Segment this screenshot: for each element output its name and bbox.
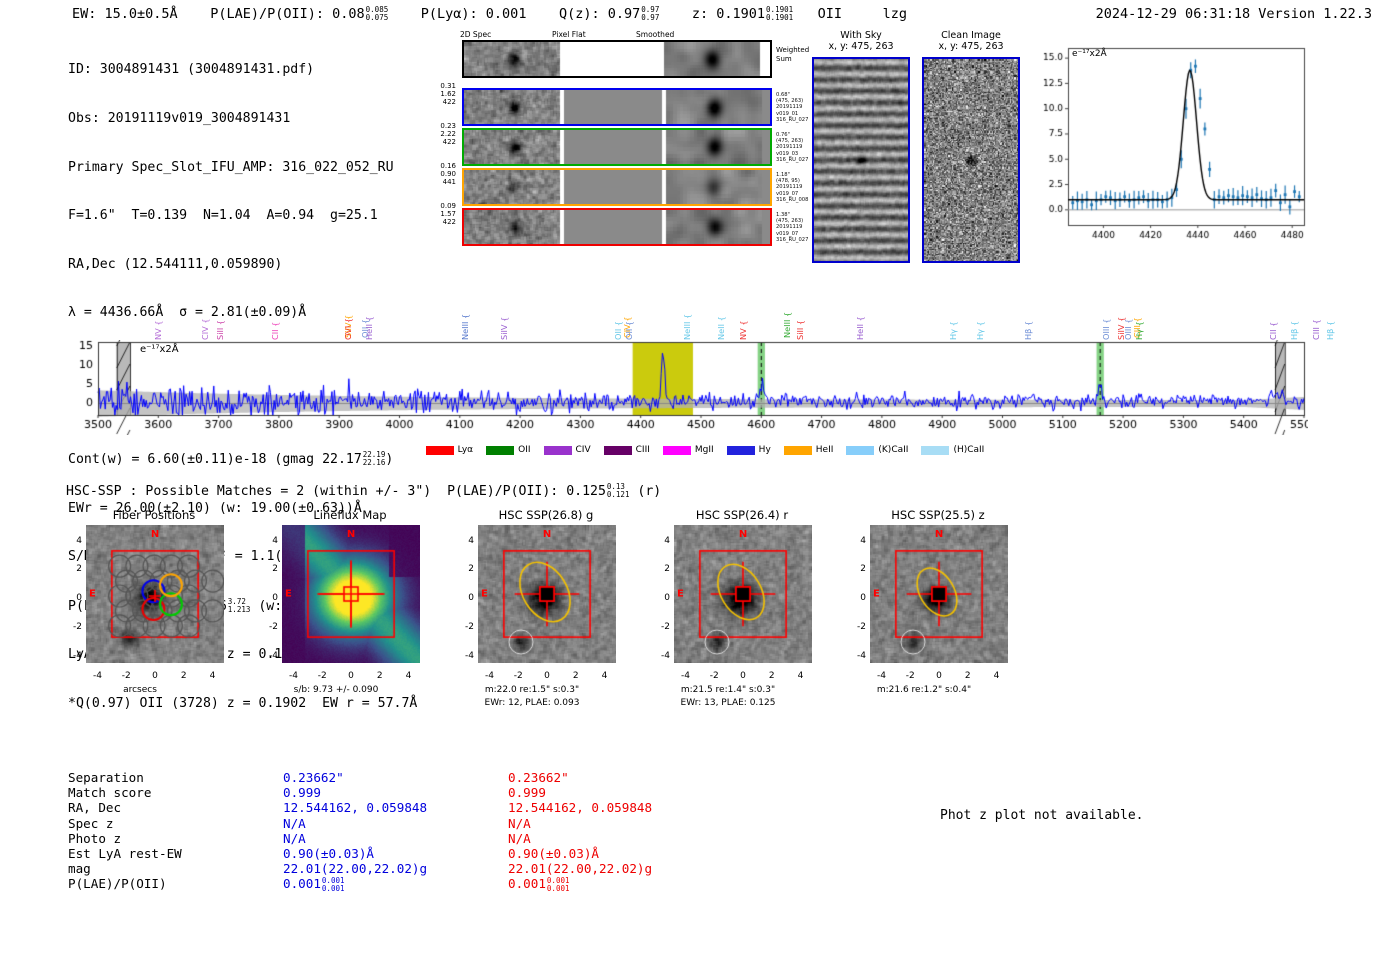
cutout-ytick: -4 xyxy=(262,651,278,661)
header-z: z: 0.1901 xyxy=(692,6,765,22)
spectral-line-label: Hγ { xyxy=(948,306,958,340)
info-seeing: F=1.6" T=0.139 N=1.04 A=0.94 g=25.1 xyxy=(68,208,417,224)
spec2d-weighted-sum-row xyxy=(462,40,772,78)
match-2-value: 0.999 xyxy=(508,785,768,800)
compass-north-label: N xyxy=(543,529,551,540)
match-1-value: N/A xyxy=(283,831,508,846)
legend-label: (K)CaII xyxy=(878,445,908,455)
spectral-line-label: Hβ { xyxy=(1289,306,1299,340)
spectral-line-label: HeII { xyxy=(364,306,374,340)
cutout-ytick: 4 xyxy=(458,536,474,546)
cutout-xlabel: arcsecs xyxy=(56,685,224,696)
cutout-ytick: 0 xyxy=(458,593,474,603)
spec2d-right-value: 316_RU_008 xyxy=(776,197,808,203)
legend-label: OII xyxy=(518,445,530,455)
info-obs: Obs: 20191119v019_3004891431 xyxy=(68,111,417,127)
compass-north-label: N xyxy=(347,529,355,540)
legend-label: Lyα xyxy=(458,445,473,455)
match-row-label: Separation xyxy=(68,770,283,785)
photoz-note: Phot z plot not available. xyxy=(940,808,1144,823)
legend-item: CIII xyxy=(604,445,650,455)
with-sky-frame xyxy=(812,57,910,263)
cutout-panel-2: Lineflux MapNE-4-2024-4-2024s/b: 9.73 +/… xyxy=(252,508,448,663)
spectral-line-label: Hγ { xyxy=(975,306,985,340)
spec2d-row-left-labels: 0.232.22422 xyxy=(424,122,456,147)
hsc-ssp-header: HSC-SSP : Possible Matches = 2 (within +… xyxy=(66,483,661,499)
spec2d-weighted-sum-canvas xyxy=(464,42,770,76)
cutout-xtick: 2 xyxy=(568,671,584,681)
cutout-footer: s/b: 9.73 +/- 0.090 xyxy=(252,685,420,696)
clean-image-canvas xyxy=(924,59,1018,261)
cutout-canvas-2 xyxy=(282,525,420,663)
cutout-xtick: 2 xyxy=(372,671,388,681)
hsc-plae-range: 0.130.121 xyxy=(607,483,630,499)
cutout-canvas-5 xyxy=(870,525,1008,663)
header-plae: P(LAE)/P(OII): 0.08 xyxy=(210,6,364,22)
spec2d-row-canvas-0 xyxy=(464,90,770,124)
cutout-xtick: 4 xyxy=(989,671,1005,681)
match-table: Separation0.23662"0.23662"Match score0.9… xyxy=(68,770,768,893)
match-1-value: 0.90(±0.03)Å xyxy=(283,846,508,861)
spectral-line-label: OII { xyxy=(624,306,634,340)
cutout-ytick: 2 xyxy=(654,564,670,574)
timestamp-version: 2024-12-29 06:31:18 Version 1.22.3 xyxy=(1096,6,1372,22)
clean-image-coords: x, y: 475, 263 xyxy=(922,41,1020,52)
cutout-title: Lineflux Map xyxy=(252,508,448,522)
cutout-image-area: NE xyxy=(282,525,420,663)
legend-swatch xyxy=(846,446,874,455)
cutout-ytick: 2 xyxy=(850,564,866,574)
spectral-line-label: SiIV { xyxy=(499,306,509,340)
legend-swatch xyxy=(426,446,454,455)
emission-zoom-yunits: e⁻¹⁷x2Å xyxy=(1072,49,1107,59)
spectral-line-label: CII { xyxy=(270,306,280,340)
compass-north-label: N xyxy=(739,529,747,540)
legend-swatch xyxy=(784,446,812,455)
cutout-canvas-3 xyxy=(478,525,616,663)
spec2d-row-canvas-1 xyxy=(464,130,770,164)
spec2d-left-value: 0.09 xyxy=(424,202,456,210)
spectral-line-label: Hβ { xyxy=(1023,306,1033,340)
legend-label: Hy xyxy=(759,445,771,455)
cutout-ytick: -4 xyxy=(850,651,866,661)
cutout-panel-3: HSC SSP(26.8) gNE-4-2024-4-2024m:22.0 re… xyxy=(448,508,644,663)
spec2d-left-value: 1.62 xyxy=(424,90,456,98)
spectral-line-label: CIV { xyxy=(200,306,210,340)
cutout-ytick: -2 xyxy=(66,622,82,632)
match-1-value: 0.999 xyxy=(283,785,508,800)
compass-east-label: E xyxy=(285,589,292,600)
spectral-line-label: SiII { xyxy=(215,306,225,340)
compass-north-label: N xyxy=(935,529,943,540)
legend-item: CIV xyxy=(544,445,591,455)
legend-swatch xyxy=(544,446,572,455)
spec2d-left-value: 0.90 xyxy=(424,170,456,178)
cutout-panel-5: HSC SSP(25.5) zNE-4-2024-4-2024m:21.6 re… xyxy=(840,508,1036,663)
cutout-xtick: 0 xyxy=(931,671,947,681)
cutout-xtick: 4 xyxy=(401,671,417,681)
spectral-line-label: Hγ { xyxy=(1134,306,1144,340)
spectral-line-label: NV { xyxy=(738,306,748,340)
compass-east-label: E xyxy=(873,589,880,600)
cutout-ytick: -2 xyxy=(458,622,474,632)
spectral-line-label: CII { xyxy=(1268,306,1278,340)
spec2d-row-left-labels: 0.160.90441 xyxy=(424,162,456,187)
spec2d-left-value: 422 xyxy=(424,138,456,146)
cutout-ytick: 4 xyxy=(262,536,278,546)
legend-item: (K)CaII xyxy=(846,445,908,455)
match-table-row: Photo zN/AN/A xyxy=(68,831,768,846)
cutout-title: HSC SSP(26.4) r xyxy=(644,508,840,522)
match-row-label: mag xyxy=(68,861,283,876)
spec2d-right-value: 316_RU_027 xyxy=(776,117,808,123)
emission-zoom-canvas xyxy=(1032,40,1310,255)
cutout-image-area: NE xyxy=(674,525,812,663)
cutout-ytick: -2 xyxy=(262,622,278,632)
spec2d-left-value: 0.23 xyxy=(424,122,456,130)
match-table-row: mag22.01(22.00,22.02)g22.01(22.00,22.02)… xyxy=(68,861,768,876)
with-sky-title: With Sky xyxy=(812,30,910,41)
cutout-panel-row: Fiber PositionsNE-4-2024-4-2024arcsecsLi… xyxy=(56,508,1056,723)
cutout-footer2: EWr: 12, PLAE: 0.093 xyxy=(448,698,616,709)
legend-item: (H)CaII xyxy=(921,445,984,455)
legend-item: MgII xyxy=(663,445,714,455)
legend-label: (H)CaII xyxy=(953,445,984,455)
spectral-line-label: OVI { xyxy=(343,306,353,340)
spec2d-row xyxy=(462,168,772,206)
spec2d-panel-group: 2D Spec Pixel Flat Smoothed Weighted Sum… xyxy=(424,30,754,260)
cutout-ytick: 2 xyxy=(458,564,474,574)
spec2d-left-value: 0.31 xyxy=(424,82,456,90)
info-primary-spec: Primary Spec_Slot_IFU_AMP: 316_022_052_R… xyxy=(68,160,417,176)
cutout-canvas-4 xyxy=(674,525,812,663)
legend-label: MgII xyxy=(695,445,714,455)
spectral-line-label: OIII { xyxy=(1101,306,1111,340)
match-row-label: Photo z xyxy=(68,831,283,846)
cutout-xtick: 4 xyxy=(597,671,613,681)
legend-swatch xyxy=(663,446,691,455)
cutout-xtick: -4 xyxy=(482,671,498,681)
spectrum-legend: LyαOIICIVCIIIMgIIHyHeII(K)CaII(H)CaII xyxy=(60,445,1350,455)
match-2-value: 0.90(±0.03)Å xyxy=(508,846,768,861)
spec2d-row-right-labels: 0.76"(475, 263)20191119v019_03316_RU_027 xyxy=(776,132,808,163)
legend-swatch xyxy=(727,446,755,455)
header-z-type: OII xyxy=(818,6,842,22)
spec2d-right-value: 316_RU_027 xyxy=(776,237,808,243)
spec2d-left-value: 1.57 xyxy=(424,210,456,218)
spec2d-title-pixelflat: Pixel Flat xyxy=(552,30,586,39)
cutout-xtick: -2 xyxy=(314,671,330,681)
match-row-label: Match score xyxy=(68,785,283,800)
legend-item: OII xyxy=(486,445,530,455)
spec2d-left-value: 0.16 xyxy=(424,162,456,170)
cutout-image-area: NE xyxy=(86,525,224,663)
match-2-value: N/A xyxy=(508,831,768,846)
spectral-line-label: NeIII { xyxy=(682,306,692,340)
cutout-footer2: EWr: 13, PLAE: 0.125 xyxy=(644,698,812,709)
spectral-line-label: CIII { xyxy=(1311,306,1321,340)
cutout-xtick: 0 xyxy=(343,671,359,681)
cutout-xtick: 0 xyxy=(539,671,555,681)
match-row-label: RA, Dec xyxy=(68,800,283,815)
spec2d-title-2dspec: 2D Spec xyxy=(460,30,491,39)
spec2d-left-value: 422 xyxy=(424,98,456,106)
header-plae-range: 0.0850.075 xyxy=(366,6,389,22)
cutout-xtick: 0 xyxy=(147,671,163,681)
legend-label: HeII xyxy=(816,445,834,455)
header-plya: P(Lyα): 0.001 xyxy=(421,6,527,22)
spec2d-left-value: 2.22 xyxy=(424,130,456,138)
cutout-footer: m:21.5 re:1.4" s:0.3" xyxy=(644,685,812,696)
cutout-canvas-1 xyxy=(86,525,224,663)
match-table-row: Separation0.23662"0.23662" xyxy=(68,770,768,785)
full-spectrum-canvas xyxy=(60,340,1308,435)
cutout-ytick: 0 xyxy=(262,593,278,603)
info-radec: RA,Dec (12.544111,0.059890) xyxy=(68,257,417,273)
spectral-line-label: NV { xyxy=(153,306,163,340)
spec2d-row-right-labels: 1.18"(478, 95)20191119v019_07316_RU_008 xyxy=(776,172,808,203)
match-table-row: Match score0.9990.999 xyxy=(68,785,768,800)
legend-swatch xyxy=(486,446,514,455)
spec2d-row-left-labels: 0.091.57422 xyxy=(424,202,456,227)
compass-east-label: E xyxy=(481,589,488,600)
cutout-footer: m:21.6 re:1.2" s:0.4" xyxy=(840,685,1008,696)
cutout-xtick: 4 xyxy=(205,671,221,681)
cutout-xtick: -2 xyxy=(118,671,134,681)
cutout-xtick: -4 xyxy=(90,671,106,681)
cutout-xtick: -4 xyxy=(678,671,694,681)
spec2d-row-canvas-3 xyxy=(464,210,770,244)
cutout-ytick: -4 xyxy=(458,651,474,661)
cutout-xtick: 2 xyxy=(960,671,976,681)
legend-item: Hy xyxy=(727,445,771,455)
spec2d-row-canvas-2 xyxy=(464,170,770,204)
match-row-label: P(LAE)/P(OII) xyxy=(68,876,283,892)
cutout-panel-4: HSC SSP(26.4) rNE-4-2024-4-2024m:21.5 re… xyxy=(644,508,840,663)
match-2-value: 22.01(22.00,22.02)g xyxy=(508,861,768,876)
match-row-label: Est LyA rest-EW xyxy=(68,846,283,861)
match-1-value: 0.23662" xyxy=(283,770,508,785)
spectral-line-label: SiII { xyxy=(795,306,805,340)
legend-item: Lyα xyxy=(426,445,473,455)
with-sky-canvas xyxy=(814,59,908,261)
match-1-value: 22.01(22.00,22.02)g xyxy=(283,861,508,876)
cutout-ytick: 4 xyxy=(66,536,82,546)
cutout-image-area: NE xyxy=(870,525,1008,663)
legend-swatch xyxy=(921,446,949,455)
full-spectrum-plot: e⁻¹⁷x2ÅNV {CIV {SiII {CII {SiIV {OII {OV… xyxy=(60,282,1350,467)
compass-north-label: N xyxy=(151,529,159,540)
spec2d-row xyxy=(462,88,772,126)
cutout-xtick: 2 xyxy=(764,671,780,681)
spec2d-row-right-labels: 0.68"(475, 263)20191119v019_01316_RU_027 xyxy=(776,92,808,123)
spectral-line-label: NeIII { xyxy=(460,306,470,340)
cutout-ytick: -2 xyxy=(850,622,866,632)
spec2d-right-value: 316_RU_027 xyxy=(776,157,808,163)
cutout-xtick: -4 xyxy=(874,671,890,681)
cutout-xtick: 2 xyxy=(176,671,192,681)
spec2d-title-smoothed: Smoothed xyxy=(636,30,674,39)
cutout-xtick: -2 xyxy=(510,671,526,681)
spec2d-weighted-sum-label: Weighted Sum xyxy=(776,46,809,63)
with-sky-coords: x, y: 475, 263 xyxy=(812,41,910,52)
cutout-title: HSC SSP(25.5) z xyxy=(840,508,1036,522)
match-table-row: Spec zN/AN/A xyxy=(68,816,768,831)
legend-item: HeII xyxy=(784,445,834,455)
header-qz-range: 0.970.97 xyxy=(641,6,659,22)
cutout-xtick: 4 xyxy=(793,671,809,681)
match-table-row: RA, Dec12.544162, 0.05984812.544162, 0.0… xyxy=(68,800,768,815)
cutout-ytick: 0 xyxy=(66,593,82,603)
spectral-line-label: HeII { xyxy=(855,306,865,340)
cutout-ytick: 0 xyxy=(654,593,670,603)
match-row-label: Spec z xyxy=(68,816,283,831)
cutout-ytick: 2 xyxy=(66,564,82,574)
spec2d-left-value: 422 xyxy=(424,218,456,226)
match-table-row: P(LAE)/P(OII)0.0010.0010.0010.0010.0010.… xyxy=(68,876,768,892)
emission-line-zoom-plot: e⁻¹⁷x2Å xyxy=(1032,40,1310,255)
cutout-ytick: 2 xyxy=(262,564,278,574)
match-1-value: 0.0010.0010.001 xyxy=(283,876,508,892)
cutout-ytick: 0 xyxy=(850,593,866,603)
compass-east-label: E xyxy=(677,589,684,600)
cutout-image-area: NE xyxy=(478,525,616,663)
match-2-value: 0.23662" xyxy=(508,770,768,785)
header-ew: EW: 15.0±0.5Å xyxy=(72,6,178,22)
cutout-ytick: 4 xyxy=(654,536,670,546)
info-id: ID: 3004891431 (3004891431.pdf) xyxy=(68,62,417,78)
compass-east-label: E xyxy=(89,589,96,600)
cutout-panel-1: Fiber PositionsNE-4-2024-4-2024arcsecs xyxy=(56,508,252,663)
match-1-value: 12.544162, 0.059848 xyxy=(283,800,508,815)
spectral-line-label: NeIII { xyxy=(782,282,792,338)
clean-image-title: Clean Image xyxy=(922,30,1020,41)
cutout-xtick: -2 xyxy=(706,671,722,681)
header-flags: lzg xyxy=(883,6,907,22)
spec2d-row xyxy=(462,128,772,166)
spec2d-row-right-labels: 1.38"(475, 263)20191119v019_07316_RU_027 xyxy=(776,212,808,243)
legend-label: CIV xyxy=(576,445,591,455)
header-summary-line: EW: 15.0±0.5Å P(LAE)/P(OII): 0.080.0850.… xyxy=(72,6,907,22)
match-2-value: 12.544162, 0.059848 xyxy=(508,800,768,815)
clean-image-frame xyxy=(922,57,1020,263)
spectral-line-label: NeII { xyxy=(716,306,726,340)
cutout-ytick: -4 xyxy=(654,651,670,661)
cutout-xtick: -4 xyxy=(286,671,302,681)
match-table-row: Est LyA rest-EW0.90(±0.03)Å0.90(±0.03)Å xyxy=(68,846,768,861)
cutout-footer: m:22.0 re:1.5" s:0.3" xyxy=(448,685,616,696)
legend-swatch xyxy=(604,446,632,455)
spec2d-left-value: 441 xyxy=(424,178,456,186)
header-qz: Q(z): 0.97 xyxy=(559,6,640,22)
match-2-value: 0.0010.0010.001 xyxy=(508,876,768,892)
match-1-value: N/A xyxy=(283,816,508,831)
spec2d-row xyxy=(462,208,772,246)
cutout-ytick: -2 xyxy=(654,622,670,632)
full-spectrum-yunits: e⁻¹⁷x2Å xyxy=(140,344,179,355)
cutout-ytick: 4 xyxy=(850,536,866,546)
legend-label: CIII xyxy=(636,445,650,455)
cutout-xtick: -2 xyxy=(902,671,918,681)
cutout-xtick: 0 xyxy=(735,671,751,681)
header-z-range: 0.19010.1901 xyxy=(766,6,793,22)
cutout-title: Fiber Positions xyxy=(56,508,252,522)
cutout-title: HSC SSP(26.8) g xyxy=(448,508,644,522)
spectral-line-label: Hβ { xyxy=(1325,306,1335,340)
spec2d-row-left-labels: 0.311.62422 xyxy=(424,82,456,107)
match-2-value: N/A xyxy=(508,816,768,831)
cutout-ytick: -4 xyxy=(66,651,82,661)
